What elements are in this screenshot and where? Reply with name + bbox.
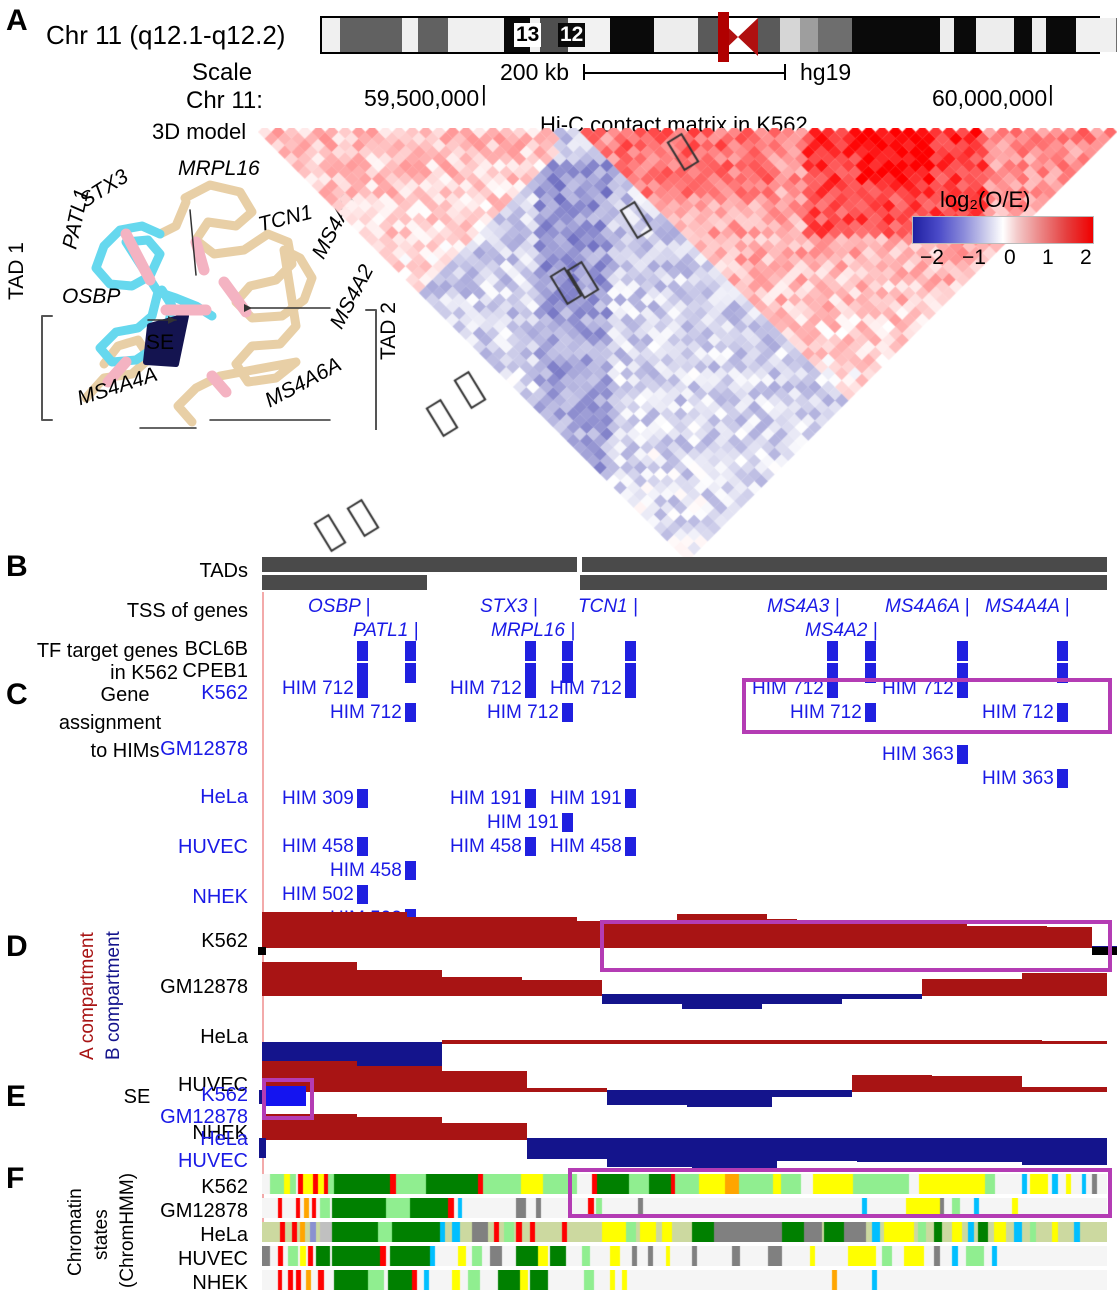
tf-target-block [865, 641, 876, 661]
tf-target-block [827, 641, 838, 661]
paneld-cell-k562: K562 [150, 930, 248, 953]
him-label-hela-191: HIM 191 [550, 788, 622, 810]
chromhmm-track-hela [262, 1222, 1107, 1242]
him-label-nhek-502: HIM 502 [282, 884, 354, 906]
chr-coord-label: Chr 11: [186, 88, 263, 113]
a-compartment-bar [442, 1040, 1042, 1042]
b-compartment-bar [842, 994, 922, 999]
tss-gene-ms4a6a: MS4A6A | [885, 596, 970, 618]
him-block [625, 837, 636, 856]
him-label-k562-712: HIM 712 [550, 678, 622, 700]
panelc-cell-gm12878: GM12878 [130, 738, 248, 761]
paneld-cell-hela: HeLa [150, 1026, 248, 1049]
b-compartment-bar [857, 1138, 937, 1162]
position-marker [718, 12, 729, 62]
him-block [357, 837, 368, 856]
tf-target-block [957, 641, 968, 661]
ideogram-band-12: 12 [558, 23, 585, 47]
panel-letter-d: D [6, 932, 28, 962]
tad-bar [582, 557, 1107, 572]
tss-gene-mrpl16: MRPL16 | [491, 620, 575, 642]
him-block [625, 789, 636, 808]
panelf-cell-gm12878: GM12878 [130, 1200, 248, 1223]
tf-target-block [1057, 641, 1068, 661]
a-compartment-bar [1022, 973, 1107, 994]
him-label-k562-712: HIM 712 [450, 678, 522, 700]
scale-tick-right [784, 64, 786, 80]
him-label-huvec-458: HIM 458 [450, 836, 522, 858]
model-gene-osbp: OSBP [62, 286, 120, 308]
tads-row-label: TADs [100, 560, 248, 583]
him-block [405, 703, 416, 722]
a-compartment-bar [1042, 1041, 1107, 1043]
b-compartment-bar [762, 994, 842, 1004]
tf-target-label-1: TF target genes [8, 640, 178, 663]
panel-letter-f: F [6, 1164, 24, 1194]
tss-gene-tcn1: TCN1 | [578, 596, 638, 618]
b-compartment-bar [607, 1138, 692, 1167]
compartment-track-gm12878 [262, 970, 1107, 1018]
tf-target-track-bcl6b [262, 641, 1107, 661]
a-compartment-bar [442, 977, 522, 994]
him-label-k562-712: HIM 712 [330, 702, 402, 724]
highlight-box-panelf [568, 1168, 1112, 1218]
tf-target-block [625, 641, 636, 661]
scale-bar [583, 72, 786, 74]
a-compartment-bar [357, 970, 442, 994]
tss-gene-ms4a2: MS4A2 | [805, 620, 878, 642]
a-compartment-label: A compartment [78, 932, 98, 1060]
a-compartment-bar [922, 979, 1022, 994]
coord-left-tick: | [481, 82, 487, 105]
panelf-label-1: Chromatin [66, 1188, 86, 1276]
paneld-cell-gm12878: GM12878 [130, 976, 248, 999]
a-compartment-bar [262, 962, 357, 994]
highlight-box-paneld [600, 920, 1112, 972]
him-block [957, 745, 968, 764]
him-label-huvec-458: HIM 458 [550, 836, 622, 858]
panelc-cell-k562: K562 [150, 682, 248, 705]
tad-bar [262, 557, 577, 572]
model-tad1-label: TAD 1 [6, 242, 28, 300]
him-block [1057, 769, 1068, 788]
panele-cell-hela: HeLa [150, 1128, 248, 1151]
b-compartment-bar [1022, 1138, 1107, 1165]
chromosome-ideogram: 13 12 [320, 16, 1100, 54]
b-compartment-bar [937, 1138, 1022, 1162]
panele-cell-k562: K562 [150, 1084, 248, 1107]
a-compartment-bar [357, 1117, 442, 1138]
panel-letter-c: C [6, 680, 28, 710]
model-label-se: SE [146, 332, 174, 354]
him-label-hela-191: HIM 191 [450, 788, 522, 810]
tss-gene-stx3: STX3 | [480, 596, 538, 618]
panele-cell-gm12878: GM12878 [130, 1106, 248, 1129]
a-compartment-bar [407, 917, 577, 946]
scale-label: Scale [192, 60, 252, 85]
a-compartment-bar [522, 980, 602, 994]
colorbar-tick-1: 1 [1042, 246, 1054, 270]
colorbar-tick-0: 0 [1004, 246, 1016, 270]
panelf-cell-nhek: NHEK [150, 1272, 248, 1295]
tss-gene-osbp: OSBP | [308, 596, 370, 618]
him-block [562, 703, 573, 722]
chromhmm-track-nhek [262, 1270, 1107, 1290]
him-label-gm12878-363: HIM 363 [882, 744, 954, 766]
him-block [562, 813, 573, 832]
ideogram-band-13: 13 [514, 23, 541, 47]
highlight-box-panelc [742, 678, 1112, 734]
genome-build-label: hg19 [800, 60, 851, 84]
coord-right-tick: | [1048, 82, 1054, 105]
b-compartment-bar [602, 994, 682, 1004]
him-label-hela-309: HIM 309 [282, 788, 354, 810]
colorbar-tick--2: −2 [920, 246, 944, 270]
coord-left: 59,500,000 [364, 86, 479, 110]
colorbar-title: log₂(O/E) [940, 188, 1030, 211]
panelc-label-2: assignment [10, 712, 210, 735]
him-block [525, 679, 536, 698]
tad-bars-lower [262, 575, 1107, 590]
coord-right: 60,000,000 [932, 86, 1047, 110]
b-compartment-label: B compartment [104, 931, 124, 1060]
panelf-cell-huvec: HUVEC [130, 1248, 248, 1271]
panele-cell-huvec: HUVEC [130, 1150, 248, 1173]
tss-of-genes-track: OSBP |PATL1 |STX3 |MRPL16 |TCN1 |MS4A3 |… [262, 596, 1107, 642]
a-compartment-bar [442, 1123, 527, 1138]
him-label-hela-191: HIM 191 [487, 812, 559, 834]
compartment-black-segment [258, 947, 266, 955]
tad-bar [580, 575, 1107, 590]
scale-tick-left [583, 64, 585, 80]
b-compartment-bar [527, 1138, 607, 1159]
him-label-k562-712: HIM 712 [282, 678, 354, 700]
him-label-k562-712: HIM 712 [487, 702, 559, 724]
tf-target-block [562, 641, 573, 661]
b-compartment-bar [777, 1138, 857, 1161]
panel-letter-b: B [6, 552, 28, 582]
tss-gene-ms4a4a: MS4A4A | [985, 596, 1070, 618]
compartment-track-nhek [262, 1114, 1107, 1162]
him-block [357, 789, 368, 808]
a-compartment-bar [262, 912, 407, 946]
him-block [357, 679, 368, 698]
colorbar [912, 216, 1094, 244]
highlight-box-panele [262, 1078, 314, 1120]
model-gene-mrpl16: MRPL16 [178, 158, 260, 180]
compartment-track-hela [262, 1018, 1107, 1066]
panelc-cell-hela: HeLa [150, 786, 248, 809]
panel-letter-a: A [6, 6, 28, 36]
super-enhancer-track [262, 1084, 1107, 1108]
him-block [625, 679, 636, 698]
him-label-huvec-458: HIM 458 [282, 836, 354, 858]
chromhmm-track-huvec [262, 1246, 1107, 1266]
tf-target-block [405, 641, 416, 661]
tad-bars-upper [262, 557, 1107, 572]
colorbar-tick-2: 2 [1080, 246, 1092, 270]
panelf-label-2: states [92, 1209, 112, 1260]
tf-target-block [357, 641, 368, 661]
him-block [357, 885, 368, 904]
tss-row-label: TSS of genes [72, 600, 248, 623]
chromosome-title: Chr 11 (q12.1-q12.2) [46, 22, 285, 49]
b-compartment-bar [259, 1138, 266, 1158]
colorbar-tick--1: −1 [962, 246, 986, 270]
b-compartment-bar [692, 1138, 777, 1169]
scale-size-label: 200 kb [500, 60, 569, 84]
panelc-cell-nhek: NHEK [150, 886, 248, 909]
panelc-cell-huvec: HUVEC [130, 836, 248, 859]
panelf-cell-hela: HeLa [150, 1224, 248, 1247]
him-block [525, 789, 536, 808]
him-block [405, 861, 416, 880]
b-compartment-bar [682, 994, 762, 1009]
tf-target-block [525, 641, 536, 661]
tss-gene-patl1: PATL1 | [353, 620, 418, 642]
tf-row-cpeb1: CPEB1 [180, 660, 248, 683]
him-block [525, 837, 536, 856]
tad-bar [262, 575, 427, 590]
tss-gene-ms4a3: MS4A3 | [767, 596, 840, 618]
him-label-huvec-458: HIM 458 [330, 860, 402, 882]
him-label-gm12878-363: HIM 363 [982, 768, 1054, 790]
tf-row-bcl6b: BCL6B [180, 638, 248, 661]
panelf-cell-k562: K562 [150, 1176, 248, 1199]
panel-letter-e: E [6, 1082, 26, 1112]
